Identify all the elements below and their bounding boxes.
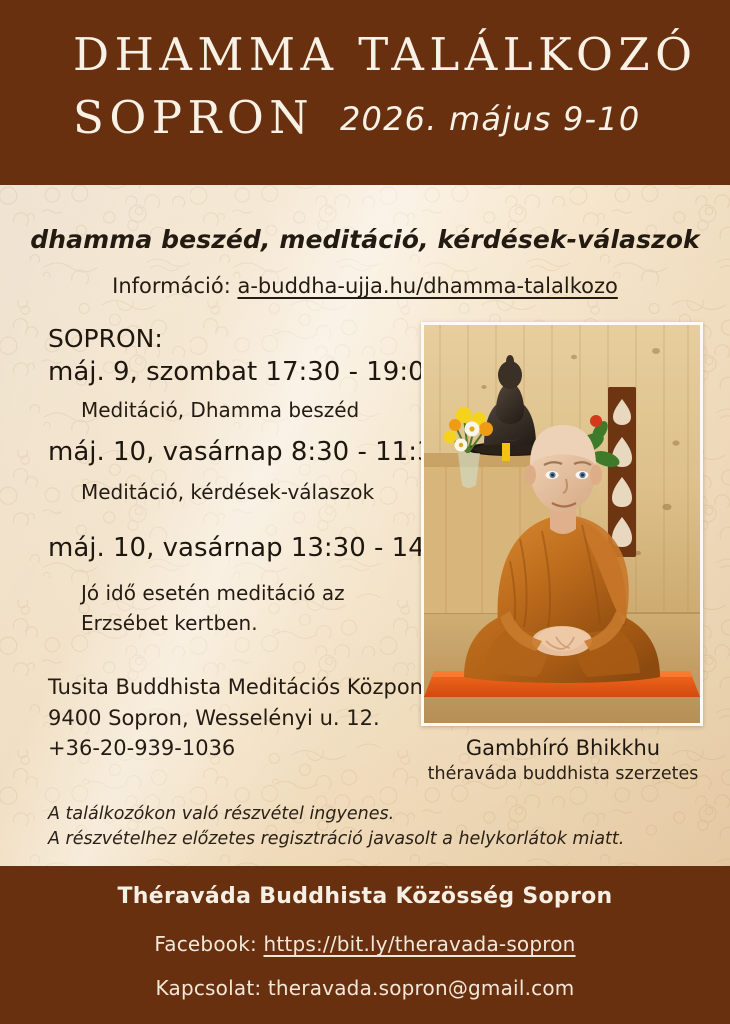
schedule-city-label: SOPRON: [48,324,163,353]
schedule-item-time: máj. 10, vasárnap 13:30 - 14:30 [48,533,467,563]
page-title: DHAMMA TALÁLKOZÓ [73,22,698,88]
venue-block: Tusita Buddhista Meditációs Központ 9400… [48,672,431,764]
event-poster: DHAMMA TALÁLKOZÓ SOPRON 2026. május 9-10… [0,0,730,1024]
footer-facebook-row: Facebook: https://bit.ly/theravada-sopro… [0,932,730,956]
speaker-role: théraváda buddhista szerzetes [411,764,715,784]
schedule-item-desc: Jó idő esetén meditáció az Erzsébet kert… [81,578,401,638]
facebook-label: Facebook: [154,932,257,956]
info-label: Információ: [112,274,231,298]
monk-meditating-illustration [424,325,700,723]
contact-email[interactable]: theravada.sopron@gmail.com [268,976,575,1000]
info-url-link[interactable]: a-buddha-ujja.hu/dhamma-talalkozo [237,274,617,298]
info-line: Információ: a-buddha-ujja.hu/dhamma-tala… [0,274,730,298]
note-line-1: A találkozókon való részvétel ingyenes. [48,802,624,827]
tagline: dhamma beszéd, meditáció, kérdések-válas… [0,225,730,254]
organization-name: Théraváda Buddhista Közösség Sopron [0,884,730,909]
venue-address: 9400 Sopron, Wesselényi u. 12. [48,703,431,734]
speaker-photo-frame [421,322,703,726]
registration-note: A találkozókon való részvétel ingyenes. … [48,802,624,852]
venue-phone: +36-20-939-1036 [48,733,431,764]
poster-header: DHAMMA TALÁLKOZÓ SOPRON 2026. május 9-10 [0,0,730,185]
venue-name: Tusita Buddhista Meditációs Központ [48,672,431,703]
poster-footer: Théraváda Buddhista Közösség Sopron Face… [0,866,730,1024]
note-line-2: A részvételhez előzetes regisztráció jav… [48,827,624,852]
schedule-item-time: máj. 10, vasárnap 8:30 - 11:30 [48,437,450,467]
facebook-link[interactable]: https://bit.ly/theravada-sopron [263,932,575,956]
speaker-photo [424,325,700,723]
footer-contact-row: Kapcsolat: theravada.sopron@gmail.com [0,976,730,1000]
schedule-item-desc: Meditáció, kérdések-válaszok [81,480,374,504]
title-city: SOPRON [73,88,314,148]
contact-label: Kapcsolat: [156,976,262,1000]
speaker-name: Gambhíró Bhikkhu [421,736,705,760]
schedule-item-time: máj. 9, szombat 17:30 - 19:00 [48,357,441,387]
event-date: 2026. május 9-10 [340,97,640,141]
schedule-item-desc: Meditáció, Dhamma beszéd [81,398,359,422]
